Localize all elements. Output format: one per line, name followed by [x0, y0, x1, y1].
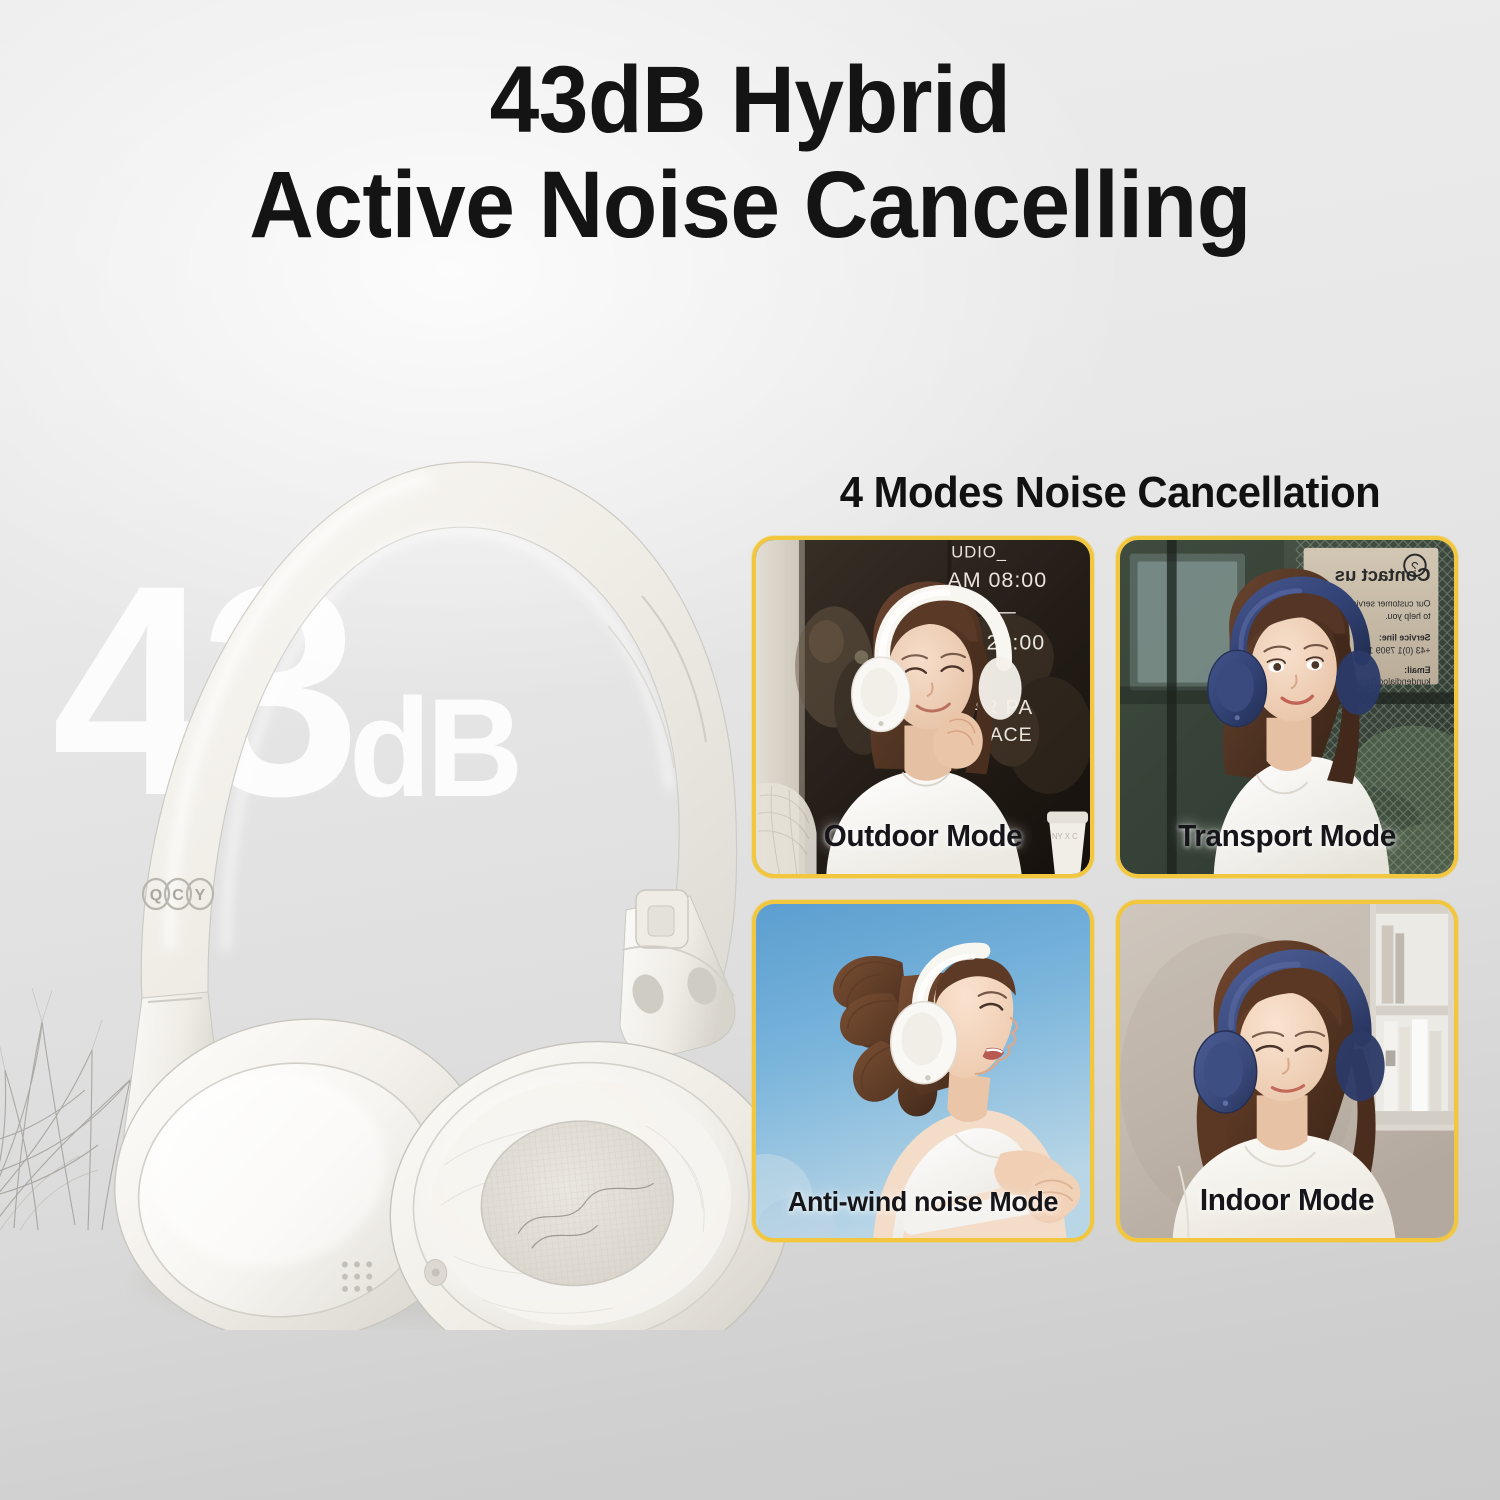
headphones-product-image: Q C Y — [30, 390, 790, 1330]
headline-line-2: Active Noise Cancelling — [45, 153, 1455, 258]
svg-text:Service line:: Service line: — [1379, 633, 1431, 643]
modes-panel: 4 Modes Noise Cancellation — [752, 468, 1468, 1242]
mode-caption-outdoor: Outdoor Mode — [763, 818, 1084, 854]
mode-caption-transport: Transport Mode — [1127, 818, 1448, 854]
modes-grid: UDIO_ AM 08:00 — PM 20:00 GAR PA SPACE — [752, 536, 1458, 1242]
svg-text:Email:: Email: — [1404, 665, 1430, 675]
panel-title: 4 Modes Noise Cancellation — [770, 468, 1450, 518]
mode-tile-indoor[interactable]: Indoor Mode — [1116, 900, 1458, 1242]
mode-caption-indoor: Indoor Mode — [1127, 1182, 1448, 1218]
svg-text:Y: Y — [195, 887, 206, 904]
mode-tile-anti-wind[interactable]: Anti-wind noise Mode — [752, 900, 1094, 1242]
page-title: 43dB Hybrid Active Noise Cancelling — [0, 48, 1500, 257]
svg-text:to help you.: to help you. — [1385, 611, 1430, 621]
headline-line-1: 43dB Hybrid — [45, 48, 1455, 153]
product-banner: 43dB Hybrid Active Noise Cancelling 43 d… — [0, 0, 1500, 1500]
mode-tile-outdoor[interactable]: UDIO_ AM 08:00 — PM 20:00 GAR PA SPACE — [752, 536, 1094, 878]
svg-text:C: C — [172, 887, 184, 904]
svg-text:Our customer service: Our customer service — [1347, 598, 1430, 608]
svg-text:UDIO_: UDIO_ — [951, 543, 1007, 562]
mode-tile-transport[interactable]: Contact us Our customer service to help … — [1116, 536, 1458, 878]
mode-caption-anti-wind: Anti-wind noise Mode — [763, 1186, 1084, 1218]
svg-text:Q: Q — [150, 887, 162, 904]
svg-text:?: ? — [1411, 559, 1419, 574]
